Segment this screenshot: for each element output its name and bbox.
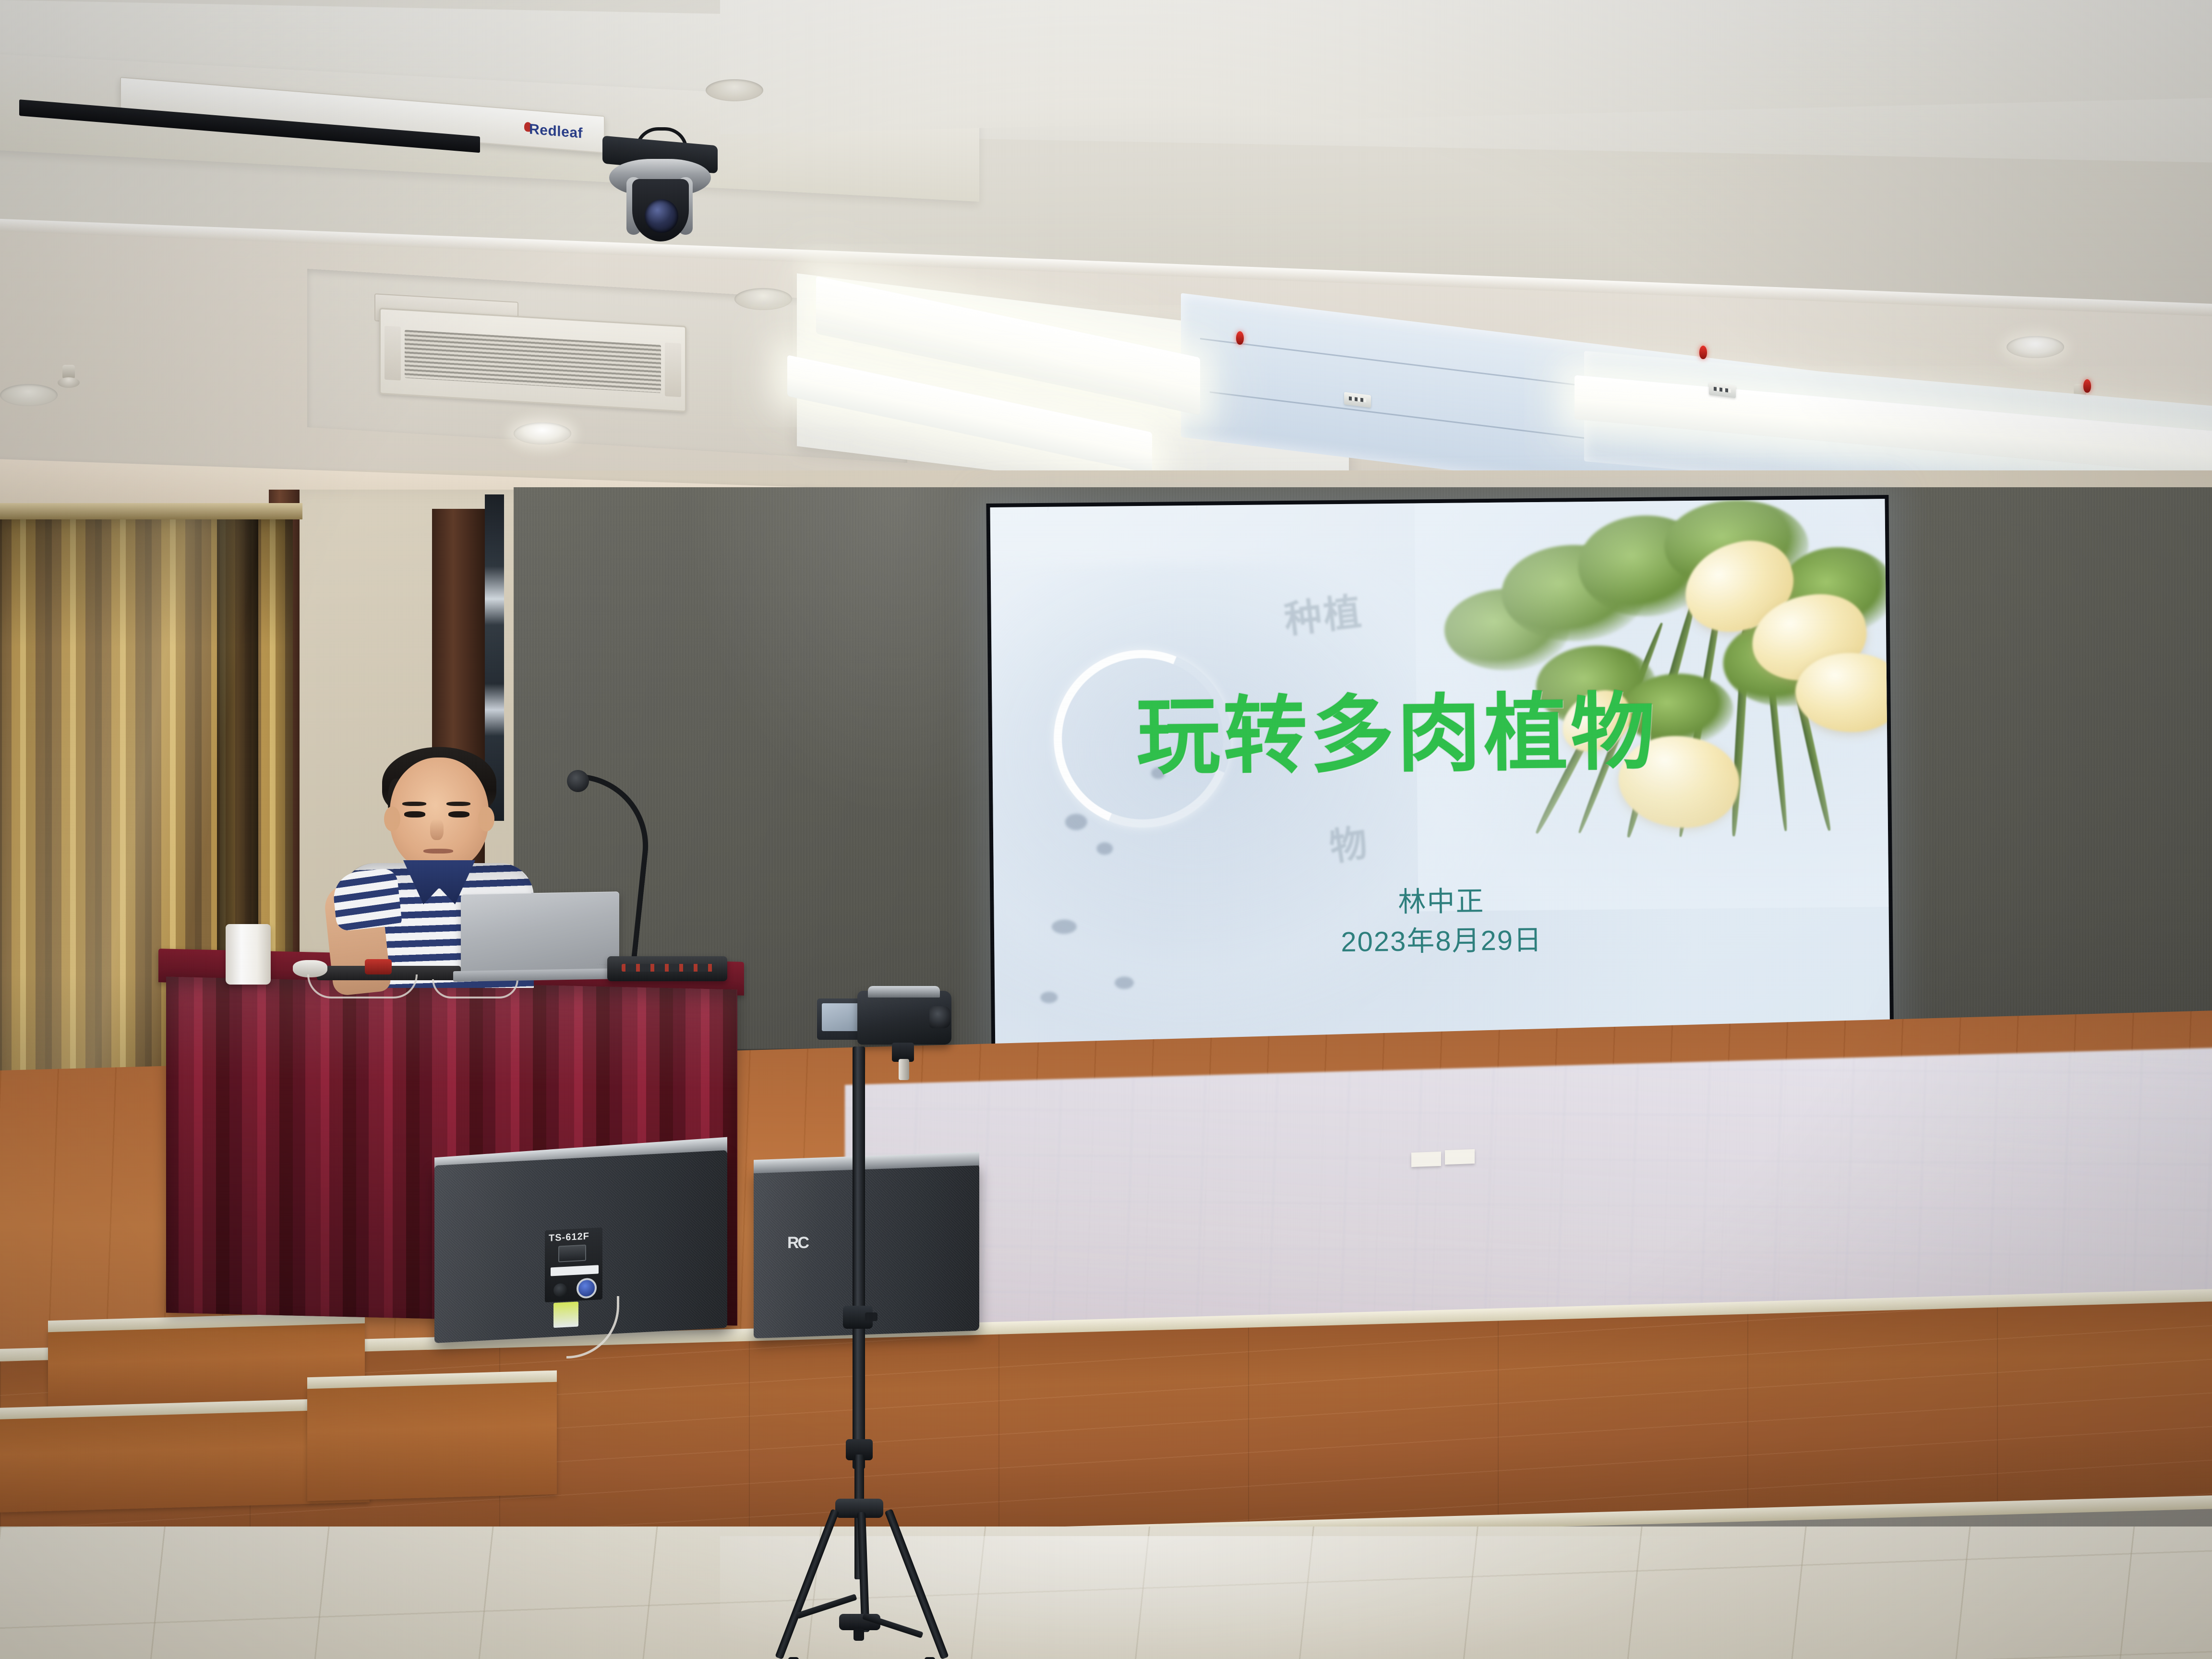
desk-red-device xyxy=(365,959,392,974)
ceiling-downlight xyxy=(734,288,792,310)
indicator-light-red xyxy=(1699,346,1707,359)
ac-vent-left-louver xyxy=(385,326,401,381)
speaker-connector-plate: TS-612F xyxy=(545,1227,602,1302)
speaker-model-label: TS-612F xyxy=(549,1231,589,1244)
speaker-spec-sticker xyxy=(551,1265,599,1276)
presenter-ear-left xyxy=(384,806,400,831)
slide-subtitle-block: 林中正 2023年8月29日 xyxy=(994,878,1889,966)
air-conditioner-vent xyxy=(379,308,686,412)
desk-cable xyxy=(307,974,418,998)
ac-vent-right-louver xyxy=(665,342,681,397)
presenter-eye-right xyxy=(448,811,469,817)
projection-screen[interactable]: 种植 物 玩转多肉植物 林中正 2023年8月29日 xyxy=(986,495,1894,1065)
ptz-camera-icon xyxy=(602,127,718,247)
ceiling-downlight xyxy=(0,384,58,406)
paper-on-stage xyxy=(1411,1152,1441,1167)
presenter-nose xyxy=(430,819,444,840)
paper-on-stage xyxy=(1445,1149,1475,1165)
indicator-light-red xyxy=(2083,379,2091,393)
slide-title: 玩转多肉植物 xyxy=(1136,691,1658,780)
camcorder-top-handle xyxy=(868,986,940,998)
stage-step xyxy=(307,1379,557,1502)
tripod-foot xyxy=(925,1657,935,1659)
presenter-sleeve xyxy=(331,867,402,932)
ceiling-downlight xyxy=(2007,336,2064,358)
ceiling-downlight xyxy=(706,79,763,101)
tripod-foot xyxy=(788,1657,799,1659)
slide-watermark-text: 种植 xyxy=(1281,581,1366,644)
speaker-socket xyxy=(553,1283,567,1297)
ceiling-downlight xyxy=(514,422,571,445)
camera-tripod[interactable] xyxy=(763,989,965,1659)
speaker-power-switch[interactable] xyxy=(558,1245,586,1262)
camcorder[interactable] xyxy=(811,984,950,1061)
indicator-light-red xyxy=(1236,331,1244,345)
slide-watermark-text: 物 xyxy=(1325,812,1372,871)
tripod-foot xyxy=(854,1628,864,1641)
presenter-eyebrow-left xyxy=(402,802,426,806)
tripod-head-post xyxy=(899,1059,909,1080)
presentation-slide[interactable]: 种植 物 玩转多肉植物 林中正 2023年8月29日 xyxy=(990,499,1890,1053)
microphone-base[interactable] xyxy=(607,956,727,981)
gooseneck-microphone[interactable] xyxy=(574,778,660,979)
white-cup xyxy=(226,924,271,985)
tripod-main-pole xyxy=(853,1046,865,1469)
presenter-eyebrow-right xyxy=(446,802,470,806)
presenter-eye-left xyxy=(404,811,425,817)
camcorder-lens-icon xyxy=(929,1006,950,1028)
tripod-height-knob[interactable] xyxy=(843,1306,873,1329)
camera-lens-icon xyxy=(645,199,678,233)
sprinkler-head xyxy=(58,365,80,390)
conference-hall-photo: Redleaf xyxy=(0,0,2212,1659)
tripod-leg xyxy=(775,1509,839,1659)
presenter-ear-right xyxy=(478,806,494,831)
ac-vent-grille xyxy=(405,330,661,393)
presenter-mouth xyxy=(423,849,453,854)
microphone-gooseneck xyxy=(564,774,655,968)
curtain-rail xyxy=(0,503,302,519)
desk-cable xyxy=(432,979,518,998)
microphone-capsule-icon xyxy=(567,770,589,792)
